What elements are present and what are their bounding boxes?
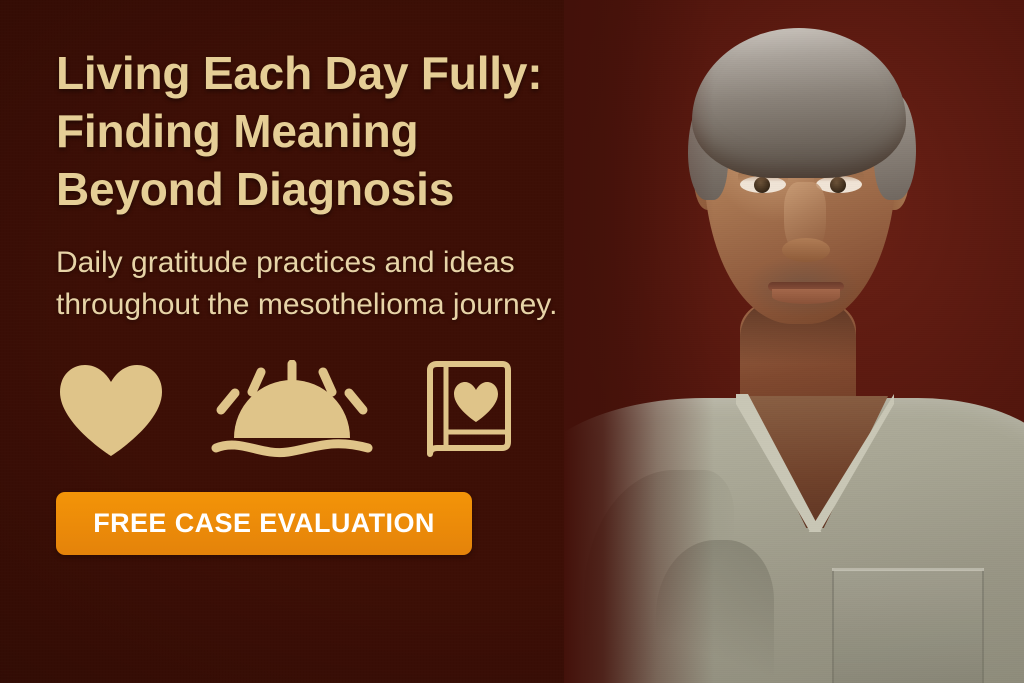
free-case-evaluation-button[interactable]: FREE CASE EVALUATION [56,492,472,555]
heart-icon [56,362,166,458]
content-column: Living Each Day Fully: Finding Meaning B… [56,44,706,555]
sunrise-icon [210,360,374,460]
promo-banner: Living Each Day Fully: Finding Meaning B… [0,0,1024,683]
book-heart-icon [418,360,518,460]
page-title: Living Each Day Fully: Finding Meaning B… [56,44,706,218]
subheadline: Daily gratitude practices and ideas thro… [56,242,706,326]
icon-row [56,360,706,460]
